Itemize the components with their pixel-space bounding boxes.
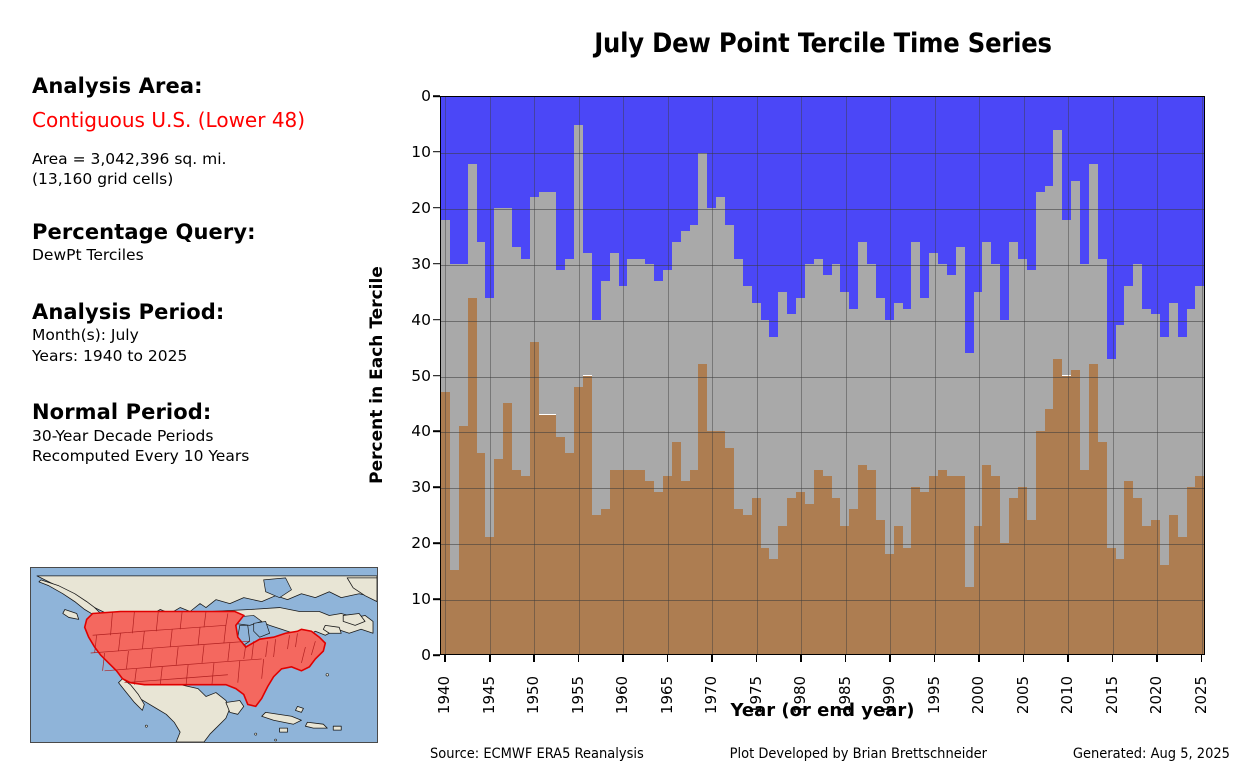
bar-1991 — [894, 97, 903, 654]
segment-near-normal — [548, 192, 557, 415]
segment-above-normal — [601, 509, 610, 654]
segment-above-normal — [1124, 481, 1133, 654]
bar-1968 — [690, 97, 699, 654]
segment-below-normal — [627, 97, 636, 259]
segment-near-normal — [610, 253, 619, 470]
segment-below-normal — [681, 97, 690, 231]
segment-below-normal — [911, 97, 920, 242]
segment-below-normal — [903, 97, 912, 309]
bar-1969 — [698, 97, 707, 654]
segment-above-normal — [796, 492, 805, 654]
segment-below-normal — [743, 97, 752, 286]
bar-1993 — [911, 97, 920, 654]
segment-near-normal — [1160, 337, 1169, 565]
segment-below-normal — [512, 97, 521, 247]
y-tick-mark — [433, 487, 440, 489]
segment-below-normal — [690, 97, 699, 225]
segment-below-normal — [965, 97, 974, 353]
segment-above-normal — [1116, 559, 1125, 654]
segment-near-normal — [734, 259, 743, 510]
y-tick-label: 20 — [411, 199, 431, 217]
segment-near-normal — [965, 353, 974, 587]
segment-near-normal — [832, 264, 841, 498]
segment-above-normal — [645, 481, 654, 654]
segment-near-normal — [867, 264, 876, 470]
segment-near-normal — [583, 253, 592, 376]
y-tick-mark — [433, 598, 440, 600]
segment-below-normal — [849, 97, 858, 309]
segment-below-normal — [982, 97, 991, 242]
x-tick-mark — [711, 655, 713, 662]
segment-below-normal — [477, 97, 486, 242]
segment-near-normal — [574, 125, 583, 387]
segment-below-normal — [592, 97, 601, 320]
y-tick-label: 0 — [421, 87, 431, 105]
segment-below-normal — [787, 97, 796, 314]
segment-below-normal — [1178, 97, 1187, 337]
segment-above-normal — [920, 492, 929, 654]
x-tick-mark — [800, 655, 802, 662]
segment-above-normal — [787, 498, 796, 654]
segment-above-normal — [1045, 409, 1054, 654]
bar-1982 — [814, 97, 823, 654]
bar-2015 — [1107, 97, 1116, 654]
segment-below-normal — [521, 97, 530, 259]
segment-above-normal — [512, 470, 521, 654]
segment-below-normal — [1107, 97, 1116, 359]
y-tick-label: 0 — [421, 646, 431, 664]
segment-near-normal — [716, 197, 725, 431]
segment-near-normal — [663, 270, 672, 476]
bar-2011 — [1071, 97, 1080, 654]
segment-below-normal — [503, 97, 512, 208]
segment-below-normal — [947, 97, 956, 275]
bar-1952 — [548, 97, 557, 654]
y-tick-label: 30 — [411, 255, 431, 273]
segment-above-normal — [707, 431, 716, 654]
segment-below-normal — [707, 97, 716, 208]
x-tick-mark — [1156, 655, 1158, 662]
segment-near-normal — [1009, 242, 1018, 498]
segment-below-normal — [1053, 97, 1062, 130]
segment-above-normal — [1107, 548, 1116, 654]
segment-below-normal — [654, 97, 663, 281]
segment-above-normal — [654, 492, 663, 654]
bar-1945 — [485, 97, 494, 654]
segment-near-normal — [503, 208, 512, 403]
segment-near-normal — [539, 192, 548, 415]
footer-generated: Generated: Aug 5, 2025 — [1073, 746, 1230, 762]
segment-below-normal — [929, 97, 938, 253]
segment-below-normal — [796, 97, 805, 298]
segment-above-normal — [840, 526, 849, 654]
chart-title: July Dew Point Tercile Time Series — [440, 28, 1206, 59]
bar-1978 — [778, 97, 787, 654]
bar-2014 — [1098, 97, 1107, 654]
segment-above-normal — [503, 403, 512, 654]
segment-below-normal — [601, 97, 610, 281]
segment-above-normal — [974, 526, 983, 654]
bar-2008 — [1045, 97, 1054, 654]
chart-footer: Source: ECMWF ERA5 Reanalysis Plot Devel… — [430, 746, 1230, 762]
segment-above-normal — [805, 504, 814, 654]
bar-1946 — [494, 97, 503, 654]
segment-near-normal — [1080, 264, 1089, 470]
stacked-bars-container — [441, 97, 1204, 654]
y-tick-label: 40 — [411, 311, 431, 329]
segment-above-normal — [849, 509, 858, 654]
bar-1947 — [503, 97, 512, 654]
bar-1964 — [654, 97, 663, 654]
segment-below-normal — [574, 97, 583, 125]
x-tick-mark — [622, 655, 624, 662]
x-tick-mark — [1112, 655, 1114, 662]
y-tick-mark — [433, 375, 440, 377]
y-tick-label: 10 — [411, 590, 431, 608]
bar-1970 — [707, 97, 716, 654]
bar-2023 — [1178, 97, 1187, 654]
segment-near-normal — [991, 264, 1000, 476]
bar-2013 — [1089, 97, 1098, 654]
segment-above-normal — [911, 487, 920, 654]
x-tick-mark — [1067, 655, 1069, 662]
segment-above-normal — [858, 465, 867, 654]
bar-1965 — [663, 97, 672, 654]
segment-above-normal — [459, 426, 468, 654]
segment-near-normal — [521, 259, 530, 476]
segment-near-normal — [947, 275, 956, 476]
segment-above-normal — [876, 520, 885, 654]
segment-above-normal — [1195, 476, 1204, 654]
segment-near-normal — [1187, 309, 1196, 487]
bar-2022 — [1169, 97, 1178, 654]
bar-1963 — [645, 97, 654, 654]
bar-2006 — [1027, 97, 1036, 654]
bar-1992 — [903, 97, 912, 654]
segment-near-normal — [814, 259, 823, 471]
bar-2007 — [1036, 97, 1045, 654]
segment-below-normal — [814, 97, 823, 259]
segment-above-normal — [494, 459, 503, 654]
segment-above-normal — [752, 498, 761, 654]
bar-2004 — [1009, 97, 1018, 654]
segment-above-normal — [521, 476, 530, 654]
y-tick-label: 10 — [411, 143, 431, 161]
segment-near-normal — [805, 264, 814, 504]
segment-below-normal — [1062, 97, 1071, 220]
segment-above-normal — [441, 392, 450, 654]
segment-below-normal — [485, 97, 494, 298]
bar-1990 — [885, 97, 894, 654]
segment-near-normal — [485, 298, 494, 538]
bar-1995 — [929, 97, 938, 654]
bar-1949 — [521, 97, 530, 654]
bar-1984 — [832, 97, 841, 654]
bar-1997 — [947, 97, 956, 654]
x-tick-mark — [845, 655, 847, 662]
segment-above-normal — [1009, 498, 1018, 654]
segment-near-normal — [956, 247, 965, 475]
y-tick-mark — [433, 431, 440, 433]
segment-near-normal — [761, 320, 770, 548]
segment-below-normal — [468, 97, 477, 164]
segment-near-normal — [1195, 286, 1204, 475]
segment-below-normal — [920, 97, 929, 298]
segment-below-normal — [1098, 97, 1107, 259]
bar-1999 — [965, 97, 974, 654]
y-tick-mark — [433, 151, 440, 153]
segment-near-normal — [1133, 264, 1142, 498]
x-axis-title: Year (or end year) — [440, 700, 1205, 721]
bar-1942 — [459, 97, 468, 654]
segment-above-normal — [903, 548, 912, 654]
segment-below-normal — [894, 97, 903, 303]
bar-1977 — [769, 97, 778, 654]
segment-below-normal — [1071, 97, 1080, 181]
segment-near-normal — [627, 259, 636, 471]
y-axis-title: Percent in Each Tercile — [367, 266, 387, 484]
segment-near-normal — [1151, 314, 1160, 520]
bar-2018 — [1133, 97, 1142, 654]
segment-above-normal — [574, 387, 583, 654]
segment-above-normal — [743, 515, 752, 654]
segment-above-normal — [1053, 359, 1062, 654]
bar-1961 — [627, 97, 636, 654]
segment-above-normal — [982, 465, 991, 654]
segment-near-normal — [938, 264, 947, 470]
segment-above-normal — [619, 470, 628, 654]
segment-above-normal — [823, 476, 832, 654]
x-tick-mark — [533, 655, 535, 662]
segment-below-normal — [1151, 97, 1160, 314]
segment-above-normal — [1178, 537, 1187, 654]
segment-below-normal — [619, 97, 628, 286]
segment-below-normal — [1160, 97, 1169, 337]
y-tick-mark — [433, 542, 440, 544]
segment-above-normal — [1151, 520, 1160, 654]
bar-1975 — [752, 97, 761, 654]
segment-near-normal — [601, 281, 610, 509]
segment-above-normal — [1098, 442, 1107, 654]
bar-1994 — [920, 97, 929, 654]
segment-above-normal — [565, 453, 574, 654]
x-tick-mark — [1023, 655, 1025, 662]
segment-below-normal — [805, 97, 814, 264]
segment-above-normal — [832, 498, 841, 654]
segment-above-normal — [636, 470, 645, 654]
x-tick-mark — [756, 655, 758, 662]
segment-below-normal — [636, 97, 645, 259]
bar-2001 — [982, 97, 991, 654]
segment-near-normal — [1169, 303, 1178, 515]
segment-above-normal — [530, 342, 539, 654]
segment-near-normal — [1116, 325, 1125, 559]
segment-near-normal — [1107, 359, 1116, 548]
y-tick-label: 50 — [411, 367, 431, 385]
x-tick-mark — [667, 655, 669, 662]
bar-1967 — [681, 97, 690, 654]
bar-1956 — [583, 97, 592, 654]
segment-above-normal — [814, 470, 823, 654]
segment-below-normal — [840, 97, 849, 292]
segment-above-normal — [885, 554, 894, 654]
segment-near-normal — [876, 298, 885, 521]
segment-near-normal — [494, 208, 503, 459]
segment-below-normal — [548, 97, 557, 192]
segment-above-normal — [867, 470, 876, 654]
x-tick-mark — [444, 655, 446, 662]
segment-below-normal — [1045, 97, 1054, 186]
segment-below-normal — [991, 97, 1000, 264]
segment-above-normal — [725, 448, 734, 654]
bar-2000 — [974, 97, 983, 654]
segment-near-normal — [982, 242, 991, 465]
segment-below-normal — [974, 97, 983, 292]
segment-below-normal — [769, 97, 778, 337]
y-tick-label: 30 — [411, 478, 431, 496]
segment-near-normal — [592, 320, 601, 515]
segment-near-normal — [1053, 130, 1062, 358]
bar-1987 — [858, 97, 867, 654]
segment-above-normal — [627, 470, 636, 654]
segment-below-normal — [1142, 97, 1151, 309]
y-tick-label: 20 — [411, 534, 431, 552]
segment-above-normal — [690, 470, 699, 654]
screenshot-root: Analysis Area: Contiguous U.S. (Lower 48… — [0, 0, 1250, 780]
segment-above-normal — [1000, 543, 1009, 654]
segment-near-normal — [1098, 259, 1107, 443]
segment-below-normal — [583, 97, 592, 253]
segment-above-normal — [1089, 364, 1098, 654]
segment-near-normal — [619, 286, 628, 470]
bar-1996 — [938, 97, 947, 654]
segment-below-normal — [778, 97, 787, 292]
segment-near-normal — [645, 264, 654, 481]
segment-below-normal — [645, 97, 654, 264]
bar-2012 — [1080, 97, 1089, 654]
segment-below-normal — [1169, 97, 1178, 303]
segment-above-normal — [477, 453, 486, 654]
x-tick-mark — [978, 655, 980, 662]
segment-below-normal — [938, 97, 947, 264]
bar-2010 — [1062, 97, 1071, 654]
y-tick-mark — [433, 654, 440, 656]
segment-near-normal — [787, 314, 796, 498]
segment-near-normal — [1036, 192, 1045, 432]
segment-below-normal — [698, 97, 707, 153]
segment-near-normal — [556, 270, 565, 437]
segment-above-normal — [450, 570, 459, 654]
bar-2025 — [1195, 97, 1204, 654]
segment-above-normal — [468, 298, 477, 654]
segment-above-normal — [1036, 431, 1045, 654]
segment-near-normal — [840, 292, 849, 526]
segment-near-normal — [796, 298, 805, 493]
segment-below-normal — [539, 97, 548, 192]
segment-near-normal — [477, 242, 486, 454]
segment-near-normal — [468, 164, 477, 298]
segment-below-normal — [459, 97, 468, 264]
segment-below-normal — [752, 97, 761, 303]
segment-below-normal — [823, 97, 832, 275]
bar-1941 — [450, 97, 459, 654]
segment-above-normal — [716, 431, 725, 654]
segment-near-normal — [1000, 320, 1009, 543]
bar-1959 — [610, 97, 619, 654]
segment-below-normal — [1009, 97, 1018, 242]
segment-below-normal — [672, 97, 681, 242]
segment-above-normal — [1160, 565, 1169, 654]
segment-near-normal — [1018, 259, 1027, 487]
segment-near-normal — [1142, 309, 1151, 526]
segment-near-normal — [441, 220, 450, 393]
footer-developer: Plot Developed by Brian Brettschneider — [730, 746, 987, 762]
segment-below-normal — [876, 97, 885, 298]
bar-1954 — [565, 97, 574, 654]
segment-near-normal — [681, 231, 690, 482]
segment-below-normal — [1036, 97, 1045, 192]
segment-near-normal — [459, 264, 468, 426]
segment-near-normal — [1089, 164, 1098, 365]
bar-2020 — [1151, 97, 1160, 654]
segment-above-normal — [1169, 515, 1178, 654]
segment-above-normal — [947, 476, 956, 654]
bar-1979 — [787, 97, 796, 654]
bar-2019 — [1142, 97, 1151, 654]
segment-above-normal — [610, 470, 619, 654]
segment-above-normal — [583, 376, 592, 655]
segment-below-normal — [610, 97, 619, 253]
segment-near-normal — [672, 242, 681, 443]
bar-2021 — [1160, 97, 1169, 654]
segment-below-normal — [450, 97, 459, 264]
bar-1943 — [468, 97, 477, 654]
bar-2024 — [1187, 97, 1196, 654]
segment-below-normal — [1124, 97, 1133, 286]
segment-near-normal — [698, 153, 707, 365]
segment-near-normal — [1027, 270, 1036, 521]
bar-1980 — [796, 97, 805, 654]
segment-below-normal — [832, 97, 841, 264]
y-tick-label: 40 — [411, 422, 431, 440]
segment-above-normal — [956, 476, 965, 654]
segment-above-normal — [548, 415, 557, 655]
bar-1944 — [477, 97, 486, 654]
bar-1966 — [672, 97, 681, 654]
segment-above-normal — [663, 476, 672, 654]
bar-1950 — [530, 97, 539, 654]
segment-above-normal — [485, 537, 494, 654]
bar-1957 — [592, 97, 601, 654]
x-tick-mark — [489, 655, 491, 662]
segment-near-normal — [885, 320, 894, 554]
segment-near-normal — [911, 242, 920, 487]
bar-1976 — [761, 97, 770, 654]
segment-below-normal — [1187, 97, 1196, 309]
segment-above-normal — [672, 442, 681, 654]
y-tick-mark — [433, 263, 440, 265]
segment-near-normal — [1062, 220, 1071, 376]
segment-below-normal — [761, 97, 770, 320]
segment-above-normal — [769, 559, 778, 654]
bar-1971 — [716, 97, 725, 654]
bar-1951 — [539, 97, 548, 654]
segment-near-normal — [707, 208, 716, 431]
segment-above-normal — [698, 364, 707, 654]
bar-1981 — [805, 97, 814, 654]
bar-1988 — [867, 97, 876, 654]
segment-below-normal — [1000, 97, 1009, 320]
